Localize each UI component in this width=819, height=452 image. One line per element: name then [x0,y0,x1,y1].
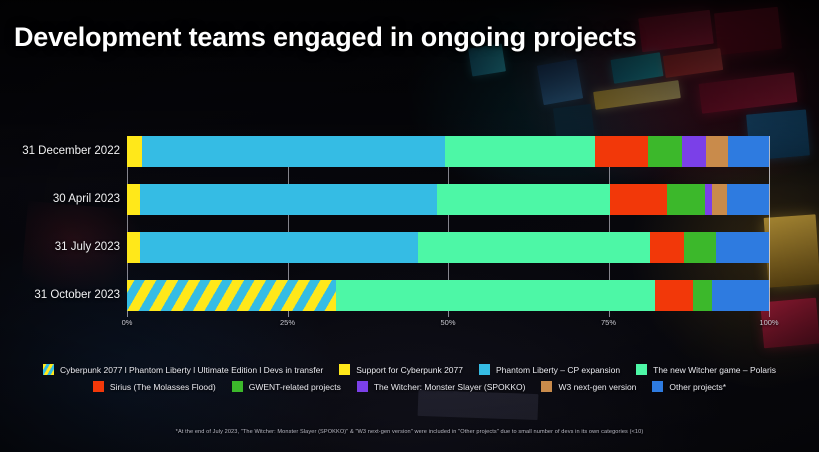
x-axis-tick-label: 75% [601,318,616,327]
legend-item[interactable]: Cyberpunk 2077 l Phantom Liberty l Ultim… [43,364,323,375]
legend-item[interactable]: Sirius (The Molasses Flood) [93,381,216,392]
legend-swatch-cp2077-bundle [43,364,54,375]
bar-segment-sirius[interactable] [650,232,684,263]
legend-item[interactable]: W3 next-gen version [541,381,636,392]
stacked-bar[interactable] [127,136,769,167]
bar-segment-other[interactable] [716,232,769,263]
x-axis-tickmark [288,311,289,317]
legend-swatch-gwent [232,381,243,392]
legend-item[interactable]: The new Witcher game – Polaris [636,364,776,375]
y-axis-label: 31 July 2023 [0,241,120,253]
bar-segment-phantom_liberty[interactable] [140,184,437,215]
gridline [769,136,770,311]
legend-item[interactable]: GWENT-related projects [232,381,341,392]
bar-segment-support_cp2077[interactable] [127,136,142,167]
legend-row: Cyberpunk 2077 l Phantom Liberty l Ultim… [43,364,776,375]
legend-swatch-phantom-liberty [479,364,490,375]
legend-swatch-polaris [636,364,647,375]
x-axis-tick-label: 50% [440,318,455,327]
legend-label: The new Witcher game – Polaris [653,365,776,375]
y-axis-label: 31 December 2022 [0,145,120,157]
legend-label: Other projects* [669,382,726,392]
legend-row: Sirius (The Molasses Flood)GWENT-related… [93,381,726,392]
chart-legend: Cyberpunk 2077 l Phantom Liberty l Ultim… [0,364,819,392]
bar-segment-cp2077_bundle[interactable] [127,280,336,311]
bar-segment-gwent[interactable] [693,280,713,311]
bar-segment-sirius[interactable] [610,184,667,215]
x-axis-tickmark [127,311,128,317]
legend-label: The Witcher: Monster Slayer (SPOKKO) [374,382,526,392]
footnote: *At the end of July 2023, "The Witcher: … [0,429,819,435]
legend-swatch-sirius [93,381,104,392]
legend-label: W3 next-gen version [558,382,636,392]
stacked-bar[interactable] [127,184,769,215]
legend-label: GWENT-related projects [249,382,341,392]
x-axis-tick-label: 0% [122,318,133,327]
x-axis-tickmark [609,311,610,317]
bar-segment-sirius[interactable] [655,280,692,311]
bar-row [127,184,769,215]
bar-segment-polaris[interactable] [445,136,595,167]
bar-segment-phantom_liberty[interactable] [142,136,445,167]
legend-swatch-support-cp2077 [339,364,350,375]
legend-swatch-spokko [357,381,368,392]
bar-segment-spokko[interactable] [682,136,706,167]
bar-segment-sirius[interactable] [595,136,648,167]
bar-segment-polaris[interactable] [437,184,610,215]
bar-row [127,136,769,167]
legend-label: Phantom Liberty – CP expansion [496,365,620,375]
bar-segment-other[interactable] [727,184,769,215]
legend-item[interactable]: Phantom Liberty – CP expansion [479,364,620,375]
legend-label: Support for Cyberpunk 2077 [356,365,463,375]
plot-area [127,136,769,311]
legend-swatch-other [652,381,663,392]
bar-segment-gwent[interactable] [684,232,716,263]
legend-item[interactable]: The Witcher: Monster Slayer (SPOKKO) [357,381,526,392]
slide-canvas: Development teams engaged in ongoing pro… [0,0,819,452]
legend-item[interactable]: Support for Cyberpunk 2077 [339,364,463,375]
bar-segment-phantom_liberty[interactable] [140,232,418,263]
x-axis-tickmark [448,311,449,317]
bar-segment-polaris[interactable] [336,280,656,311]
bar-segment-w3_nextgen[interactable] [706,136,728,167]
stacked-bar[interactable] [127,232,769,263]
bar-row [127,280,769,311]
legend-label: Sirius (The Molasses Flood) [110,382,216,392]
legend-swatch-w3-nextgen [541,381,552,392]
x-axis-tick-label: 100% [759,318,778,327]
bar-segment-other[interactable] [728,136,769,167]
bar-segment-spokko[interactable] [705,184,712,215]
y-axis-label: 31 October 2023 [0,289,120,301]
y-axis-label: 30 April 2023 [0,193,120,205]
bar-segment-gwent[interactable] [667,184,705,215]
legend-label: Cyberpunk 2077 l Phantom Liberty l Ultim… [60,365,323,375]
bar-segment-gwent[interactable] [648,136,682,167]
bar-segment-support_cp2077[interactable] [127,232,140,263]
x-axis-tickmark [769,311,770,317]
legend-item[interactable]: Other projects* [652,381,726,392]
bar-segment-w3_nextgen[interactable] [712,184,727,215]
bar-row [127,232,769,263]
bar-segment-polaris[interactable] [418,232,650,263]
x-axis-tick-label: 25% [280,318,295,327]
bar-segment-support_cp2077[interactable] [127,184,140,215]
stacked-bar[interactable] [127,280,769,311]
bar-segment-other[interactable] [712,280,768,311]
